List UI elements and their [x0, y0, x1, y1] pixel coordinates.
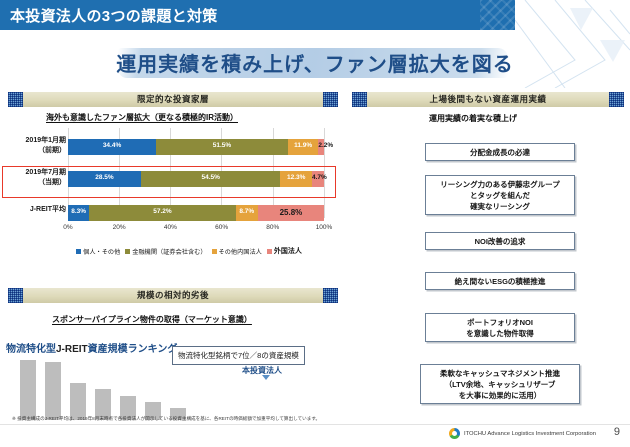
slide-root: 本投資法人の3つの課題と対策 運用実績を積み上げ、ファン層拡大を図る 限定的な投…	[0, 0, 630, 447]
section-header-scale: 規模の相対的劣後	[8, 288, 338, 303]
legend-swatch-icon	[125, 249, 130, 254]
legend-item-individual: 個人・その他	[76, 247, 120, 256]
footer-divider	[0, 424, 630, 425]
section-header-investor-base: 限定的な投資家層	[8, 92, 338, 107]
axis-tick: 100%	[316, 224, 333, 231]
legend-item-domestic: その他内国法人	[212, 247, 262, 256]
subsection-title-record: 運用実績の着実な積上げ	[429, 113, 517, 124]
company-name: ITOCHU Advance Logistics Investment Corp…	[464, 431, 596, 437]
card-portfolio-noi[interactable]: ポートフォリオNOI を意識した物件取得	[425, 313, 575, 342]
legend-swatch-icon	[212, 249, 217, 254]
company-logo-icon	[449, 428, 460, 439]
headline-text: 運用実績を積み上げ、ファン層拡大を図る	[0, 48, 630, 77]
ranking-bar-chart	[20, 352, 190, 420]
bar-segment-financial: 57.2%	[89, 205, 235, 221]
ranking-callout: 物流特化型銘柄で7位／8の資産規模	[172, 346, 305, 365]
axis-tick: 20%	[113, 224, 126, 231]
bar-segment-financial: 51.5%	[156, 139, 288, 155]
legend-swatch-icon	[76, 249, 81, 254]
chart-x-axis: 0% 20% 40% 60% 80% 100%	[68, 224, 324, 236]
card-esg[interactable]: 絶え間ないESGの積極推進	[425, 272, 575, 290]
chart-row-label: 2019年1月期 （前期）	[8, 136, 66, 156]
down-arrow-icon	[262, 375, 270, 380]
legend-item-foreign: 外国法人	[267, 246, 302, 256]
footer-logo: ITOCHU Advance Logistics Investment Corp…	[449, 428, 596, 439]
page-title: 本投資法人の3つの課題と対策	[10, 5, 218, 26]
bar-segment-individual: 34.4%	[68, 139, 156, 155]
headline-block: 運用実績を積み上げ、ファン層拡大を図る	[0, 42, 630, 84]
legend-item-financial: 金融機関（証券会社含む）	[125, 247, 206, 256]
section-header-label: 限定的な投資家層	[8, 93, 338, 105]
ranking-bar	[20, 360, 36, 420]
chart-row-label: J-REIT平均	[8, 205, 66, 215]
chart-legend: 個人・その他 金融機関（証券会社含む） その他内国法人 外国法人	[44, 246, 334, 256]
ranking-bar	[45, 362, 61, 420]
bar-segment-domestic: 11.9%	[288, 139, 318, 155]
bar-segment-domestic: 8.7%	[236, 205, 258, 221]
card-distribution-growth[interactable]: 分配金成長の必達	[425, 143, 575, 161]
card-noi-improvement[interactable]: NOI改善の追求	[425, 232, 575, 250]
axis-tick: 40%	[164, 224, 177, 231]
subsection-title-pipeline: スポンサーパイプライン物件の取得（マーケット意識）	[52, 314, 252, 325]
bar-segment-foreign: 25.8%	[258, 205, 324, 221]
chart-bar: 34.4% 51.5% 11.9% 2.2%	[68, 139, 324, 155]
axis-tick: 0%	[63, 224, 72, 231]
section-header-label: 規模の相対的劣後	[8, 289, 338, 301]
card-cash-management[interactable]: 柔軟なキャッシュマネジメント推進 （LTV余地、キャッシュリザーブ を大事に効果…	[420, 364, 580, 404]
bar-segment-foreign: 2.2%	[318, 139, 324, 155]
section-header-operating-record: 上場後間もない資産運用実績	[352, 92, 624, 107]
footnote: ※ 投資主構成のJ-REIT平均は、2019年8月末時点で各投資法人が開示してい…	[12, 415, 432, 422]
section-header-label: 上場後間もない資産運用実績	[352, 93, 624, 105]
chart-bar: 8.3% 57.2% 8.7% 25.8%	[68, 205, 324, 221]
chart-row: 2019年1月期 （前期） 34.4% 51.5% 11.9% 2.2%	[8, 136, 338, 158]
bar-segment-individual: 8.3%	[68, 205, 89, 221]
chart-row: J-REIT平均 8.3% 57.2% 8.7% 25.8%	[8, 202, 338, 224]
current-period-highlight-box	[2, 166, 336, 198]
page-number: 9	[614, 426, 620, 438]
axis-tick: 60%	[215, 224, 228, 231]
legend-swatch-icon	[267, 249, 272, 254]
card-leasing[interactable]: リーシング力のある伊藤忠グループ とタッグを組んだ 確実なリーシング	[425, 175, 575, 215]
axis-tick: 80%	[266, 224, 279, 231]
subsection-title-ir: 海外も意識したファン層拡大（更なる積極的IR活動）	[46, 112, 238, 123]
